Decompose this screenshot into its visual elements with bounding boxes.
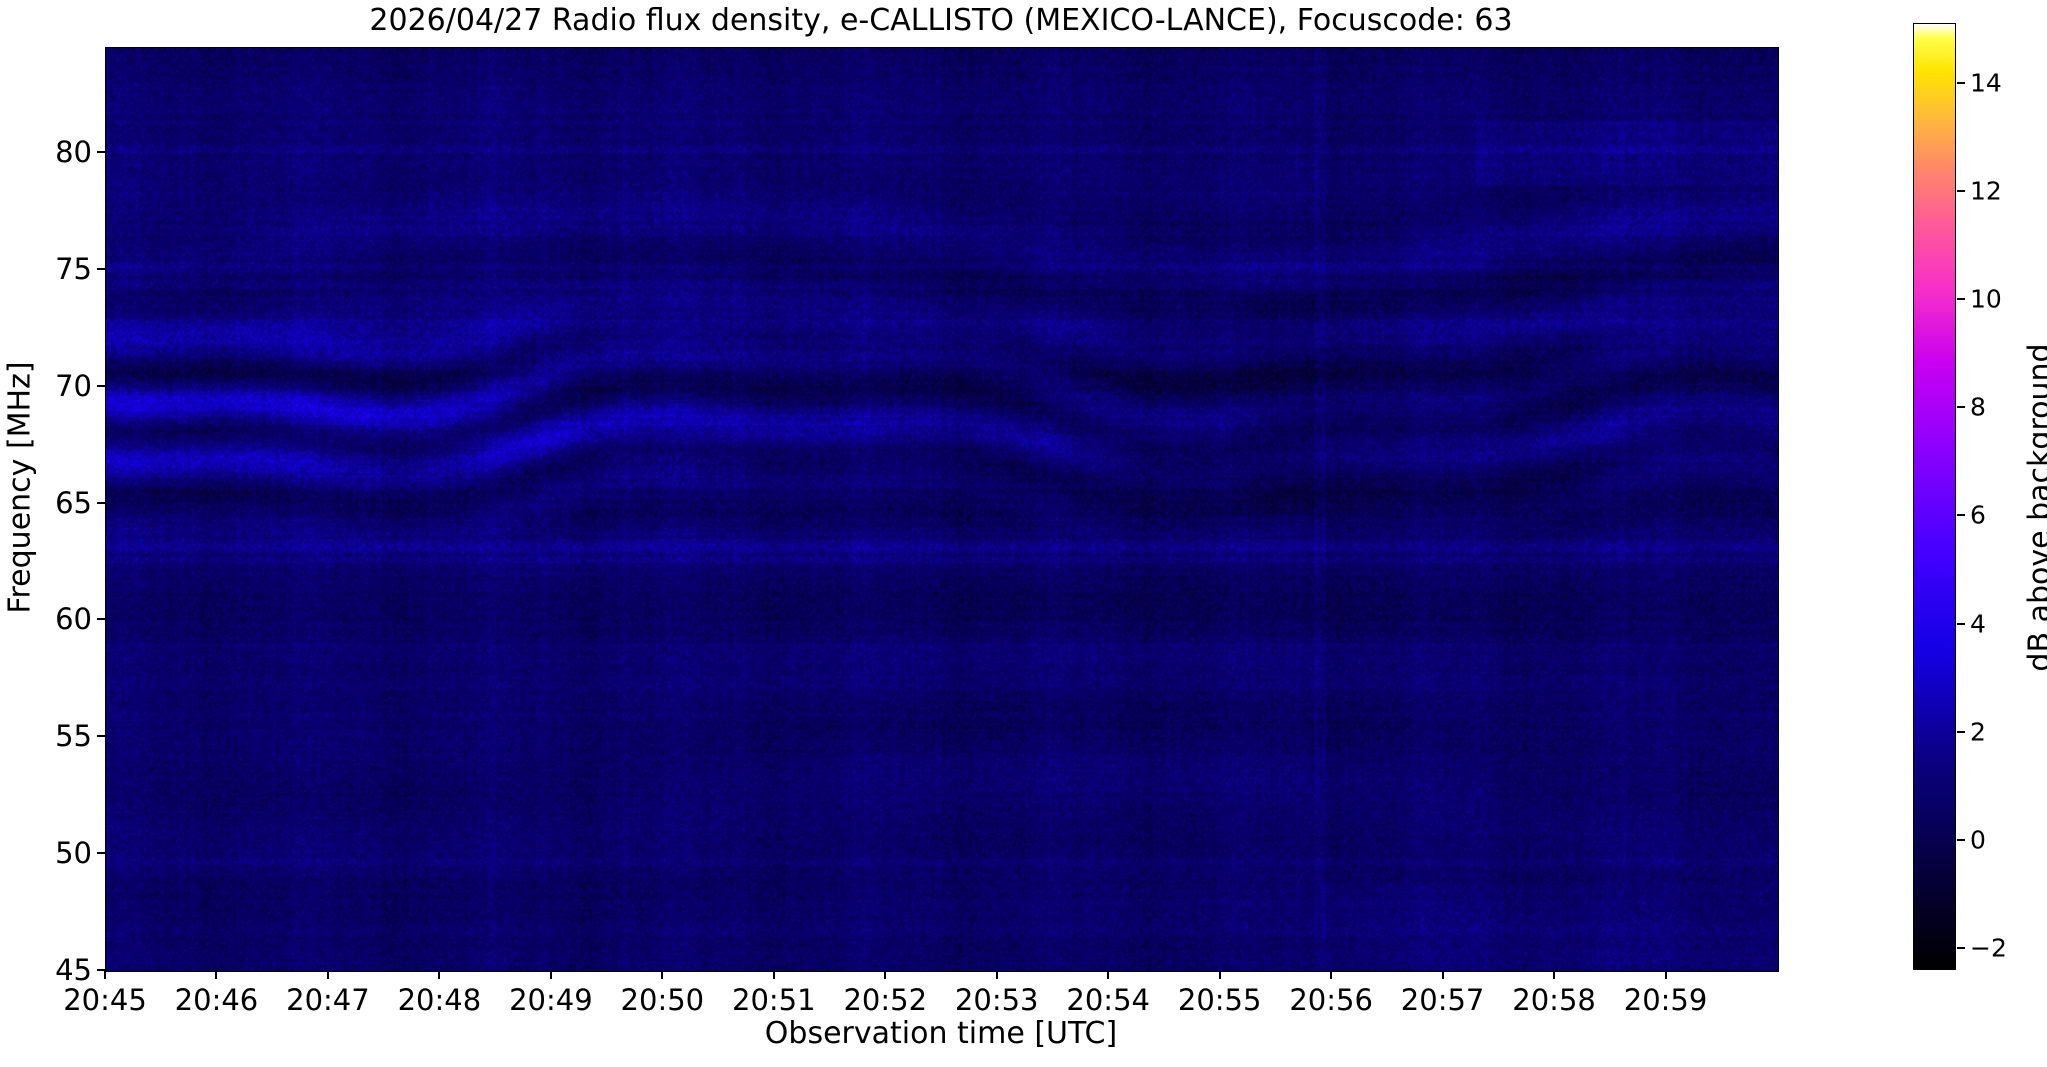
colorbar-tick-label: 6 (1970, 501, 1986, 530)
x-tick-label: 20:47 (286, 983, 370, 1017)
colorbar-tick-label: 0 (1970, 826, 1986, 855)
x-tick-mark (996, 971, 998, 979)
x-tick-label: 20:45 (63, 983, 147, 1017)
x-tick-label: 20:54 (1066, 983, 1150, 1017)
figure-title: 2026/04/27 Radio flux density, e-CALLIST… (105, 4, 1777, 38)
y-axis-label: Frequency [MHz] (3, 38, 38, 938)
colorbar-tick-mark (1957, 190, 1965, 192)
colorbar-tick-label: −2 (1970, 934, 2007, 963)
colorbar-tick-mark (1957, 514, 1965, 516)
y-tick-label: 55 (55, 719, 92, 753)
colorbar-tick-label: 2 (1970, 717, 1986, 746)
colorbar-tick-mark (1957, 839, 1965, 841)
y-tick-label: 70 (55, 369, 92, 403)
spectrogram-plot-area[interactable] (105, 47, 1779, 972)
x-tick-label: 20:56 (1289, 983, 1373, 1017)
x-tick-mark (661, 971, 663, 979)
x-tick-mark (1442, 971, 1444, 979)
x-tick-mark (1665, 971, 1667, 979)
y-tick-label: 50 (55, 836, 92, 870)
colorbar-tick-label: 4 (1970, 609, 1986, 638)
x-tick-mark (104, 971, 106, 979)
y-tick-label: 80 (55, 135, 92, 169)
x-tick-mark (1330, 971, 1332, 979)
y-tick-mark (97, 385, 105, 387)
x-tick-label: 20:53 (955, 983, 1039, 1017)
y-tick-mark (97, 852, 105, 854)
colorbar-tick-mark (1957, 298, 1965, 300)
colorbar-tick-label: 10 (1970, 284, 2002, 313)
x-tick-mark (773, 971, 775, 979)
y-tick-label: 65 (55, 486, 92, 520)
x-tick-mark (1107, 971, 1109, 979)
y-tick-mark (97, 151, 105, 153)
x-axis-label: Observation time [UTC] (105, 1016, 1777, 1051)
x-tick-mark (1553, 971, 1555, 979)
y-tick-mark (97, 735, 105, 737)
x-tick-label: 20:58 (1512, 983, 1596, 1017)
colorbar-tick-mark (1957, 82, 1965, 84)
colorbar-gradient (1913, 23, 1956, 970)
y-tick-mark (97, 268, 105, 270)
colorbar-tick-label: 14 (1970, 68, 2002, 97)
x-tick-label: 20:48 (398, 983, 482, 1017)
y-tick-label: 45 (55, 953, 92, 987)
colorbar-tick-label: 8 (1970, 393, 1986, 422)
x-tick-label: 20:59 (1624, 983, 1708, 1017)
colorbar-tick-mark (1957, 406, 1965, 408)
x-tick-mark (327, 971, 329, 979)
x-tick-label: 20:57 (1401, 983, 1485, 1017)
x-tick-label: 20:46 (175, 983, 259, 1017)
colorbar-tick-mark (1957, 947, 1965, 949)
x-tick-label: 20:55 (1178, 983, 1262, 1017)
x-tick-mark (438, 971, 440, 979)
colorbar-tick-mark (1957, 623, 1965, 625)
x-tick-label: 20:50 (621, 983, 705, 1017)
y-tick-mark (97, 502, 105, 504)
x-tick-label: 20:52 (843, 983, 927, 1017)
x-tick-mark (550, 971, 552, 979)
x-tick-mark (215, 971, 217, 979)
y-tick-mark (97, 618, 105, 620)
spectrogram-image (106, 48, 1778, 971)
x-tick-label: 20:51 (732, 983, 816, 1017)
y-tick-label: 75 (55, 252, 92, 286)
y-tick-label: 60 (55, 602, 92, 636)
x-tick-mark (1219, 971, 1221, 979)
colorbar-label: dB above background (2023, 158, 2047, 858)
colorbar (1913, 23, 1956, 970)
x-tick-mark (884, 971, 886, 979)
colorbar-tick-mark (1957, 731, 1965, 733)
spectrogram-figure: 2026/04/27 Radio flux density, e-CALLIST… (0, 0, 2047, 1067)
x-tick-label: 20:49 (509, 983, 593, 1017)
colorbar-tick-label: 12 (1970, 176, 2002, 205)
